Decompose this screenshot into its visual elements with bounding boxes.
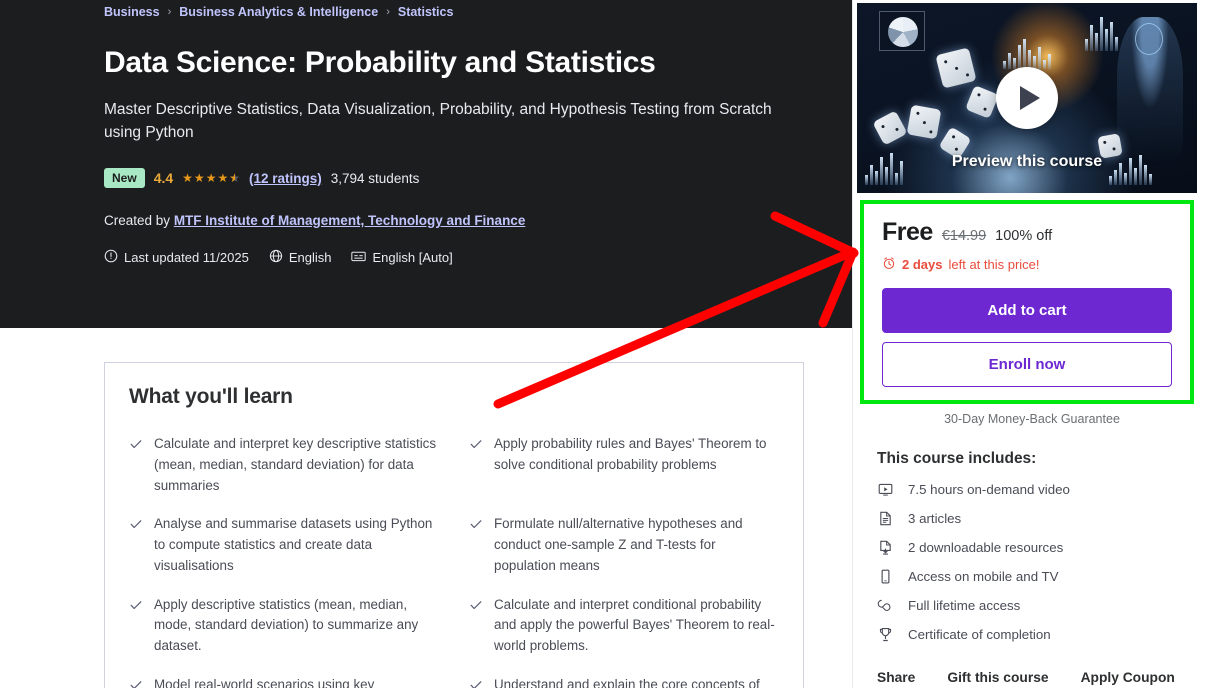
discount-percent: 100% off bbox=[995, 228, 1052, 244]
list-item: Model real-world scenarios using key bbox=[129, 675, 439, 688]
course-subtitle: Master Descriptive Statistics, Data Visu… bbox=[104, 98, 804, 145]
article-icon bbox=[877, 511, 893, 526]
status-badge-new: New bbox=[104, 168, 145, 188]
trophy-icon bbox=[877, 627, 893, 642]
urgency-message: 2 days left at this price! bbox=[882, 256, 1172, 273]
breadcrumb-item-business[interactable]: Business bbox=[104, 5, 160, 19]
rating-row: New 4.4 ★★★★★ (12 ratings) 3,794 student… bbox=[104, 168, 814, 188]
list-item-label: Model real-world scenarios using key bbox=[154, 675, 374, 688]
list-item-label: Formulate null/alternative hypotheses an… bbox=[494, 514, 779, 576]
video-thumbnail: Preview this course bbox=[857, 3, 1197, 193]
list-item-label: Calculate and interpret key descriptive … bbox=[154, 434, 439, 496]
section-title: What you'll learn bbox=[129, 385, 779, 409]
money-back-guarantee: 30-Day Money-Back Guarantee bbox=[853, 412, 1211, 426]
list-item-label: 7.5 hours on-demand video bbox=[908, 482, 1070, 497]
closed-captions-icon bbox=[351, 249, 366, 266]
list-item: Access on mobile and TV bbox=[877, 569, 1197, 584]
breadcrumb: Business › Business Analytics & Intellig… bbox=[104, 0, 814, 19]
list-item: Formulate null/alternative hypotheses an… bbox=[469, 514, 779, 576]
urgency-days: 2 days bbox=[902, 257, 942, 272]
alarm-clock-icon bbox=[882, 256, 896, 273]
price-row: Free €14.99 100% off bbox=[882, 218, 1172, 247]
chevron-right-icon: › bbox=[386, 6, 390, 18]
created-by-label: Created by bbox=[104, 213, 170, 228]
list-item-label: Apply descriptive statistics (mean, medi… bbox=[154, 595, 439, 657]
list-item-label: Certificate of completion bbox=[908, 627, 1051, 642]
course-meta-row: Last updated 11/2025 English English [Au… bbox=[104, 249, 814, 266]
pie-chart-decoration bbox=[879, 11, 925, 51]
list-item: Calculate and interpret key descriptive … bbox=[129, 434, 439, 496]
list-item: Full lifetime access bbox=[877, 598, 1197, 613]
author-link[interactable]: MTF Institute of Management, Technology … bbox=[174, 213, 526, 228]
add-to-cart-button[interactable]: Add to cart bbox=[882, 288, 1172, 333]
check-icon bbox=[129, 678, 143, 688]
includes-title: This course includes: bbox=[877, 450, 1197, 468]
last-updated-meta: Last updated 11/2025 bbox=[104, 249, 249, 266]
share-links-row: Share Gift this course Apply Coupon bbox=[877, 670, 1175, 685]
list-item: Analyse and summarise datasets using Pyt… bbox=[129, 514, 439, 576]
list-item-label: Calculate and interpret conditional prob… bbox=[494, 595, 779, 657]
check-icon bbox=[469, 437, 483, 456]
globe-icon bbox=[269, 249, 283, 266]
what-you-will-learn-section: What you'll learn Calculate and interpre… bbox=[104, 362, 804, 688]
list-item: 7.5 hours on-demand video bbox=[877, 482, 1197, 497]
course-includes-section: This course includes: 7.5 hours on-deman… bbox=[877, 450, 1197, 642]
list-item: Apply descriptive statistics (mean, medi… bbox=[129, 595, 439, 657]
check-icon bbox=[469, 517, 483, 536]
list-item: Calculate and interpret conditional prob… bbox=[469, 595, 779, 657]
language-meta: English bbox=[269, 249, 332, 266]
list-item-label: Apply probability rules and Bayes' Theor… bbox=[494, 434, 779, 476]
students-count: 3,794 students bbox=[331, 171, 420, 186]
histogram-decoration bbox=[1085, 15, 1118, 51]
check-icon bbox=[469, 678, 483, 688]
mobile-icon bbox=[877, 569, 893, 584]
list-item: 3 articles bbox=[877, 511, 1197, 526]
list-item-label: 3 articles bbox=[908, 511, 961, 526]
list-item-label: 2 downloadable resources bbox=[908, 540, 1063, 555]
list-item: 2 downloadable resources bbox=[877, 540, 1197, 555]
course-landing-page: Business › Business Analytics & Intellig… bbox=[0, 0, 1211, 688]
share-link[interactable]: Share bbox=[877, 670, 915, 685]
purchase-sidebar: Preview this course Free €14.99 100% off… bbox=[852, 0, 1211, 688]
check-icon bbox=[469, 598, 483, 617]
breadcrumb-item-analytics[interactable]: Business Analytics & Intelligence bbox=[179, 5, 378, 19]
list-item-label: Access on mobile and TV bbox=[908, 569, 1059, 584]
learn-items-grid: Calculate and interpret key descriptive … bbox=[129, 434, 779, 688]
price-current: Free bbox=[882, 218, 933, 247]
page-title: Data Science: Probability and Statistics bbox=[104, 45, 814, 82]
check-icon bbox=[129, 517, 143, 536]
check-icon bbox=[129, 598, 143, 617]
captions-meta: English [Auto] bbox=[351, 249, 452, 266]
enroll-now-button[interactable]: Enroll now bbox=[882, 342, 1172, 387]
captions-text: English [Auto] bbox=[372, 250, 452, 265]
course-preview-video[interactable]: Preview this course bbox=[857, 3, 1197, 193]
video-icon bbox=[877, 482, 893, 497]
list-item: Apply probability rules and Bayes' Theor… bbox=[469, 434, 779, 496]
list-item: Understand and explain the core concepts… bbox=[469, 675, 779, 688]
play-icon[interactable] bbox=[996, 67, 1058, 129]
dice-decoration bbox=[907, 105, 942, 140]
list-item-label: Analyse and summarise datasets using Pyt… bbox=[154, 514, 439, 576]
last-updated-text: Last updated 11/2025 bbox=[124, 250, 249, 265]
histogram-decoration bbox=[1003, 37, 1051, 69]
rating-value: 4.4 bbox=[154, 170, 173, 186]
created-by-row: Created by MTF Institute of Management, … bbox=[104, 213, 814, 228]
check-icon bbox=[129, 437, 143, 456]
star-rating-icon: ★★★★★ bbox=[182, 172, 240, 184]
exclamation-circle-icon bbox=[104, 249, 118, 266]
ratings-count-link[interactable]: (12 ratings) bbox=[249, 171, 322, 186]
apply-coupon-link[interactable]: Apply Coupon bbox=[1081, 670, 1175, 685]
breadcrumb-item-statistics[interactable]: Statistics bbox=[398, 5, 454, 19]
language-text: English bbox=[289, 250, 332, 265]
preview-course-label[interactable]: Preview this course bbox=[857, 153, 1197, 171]
figure-decoration bbox=[1117, 17, 1183, 167]
purchase-card-highlight: Free €14.99 100% off 2 days left at this… bbox=[860, 200, 1194, 404]
gift-course-link[interactable]: Gift this course bbox=[947, 670, 1048, 685]
price-original: €14.99 bbox=[942, 228, 986, 244]
download-icon bbox=[877, 540, 893, 555]
list-item-label: Full lifetime access bbox=[908, 598, 1020, 613]
list-item-label: Understand and explain the core concepts… bbox=[494, 675, 760, 688]
urgency-text: left at this price! bbox=[948, 257, 1039, 272]
infinity-icon bbox=[877, 598, 893, 613]
list-item: Certificate of completion bbox=[877, 627, 1197, 642]
chevron-right-icon: › bbox=[168, 6, 172, 18]
